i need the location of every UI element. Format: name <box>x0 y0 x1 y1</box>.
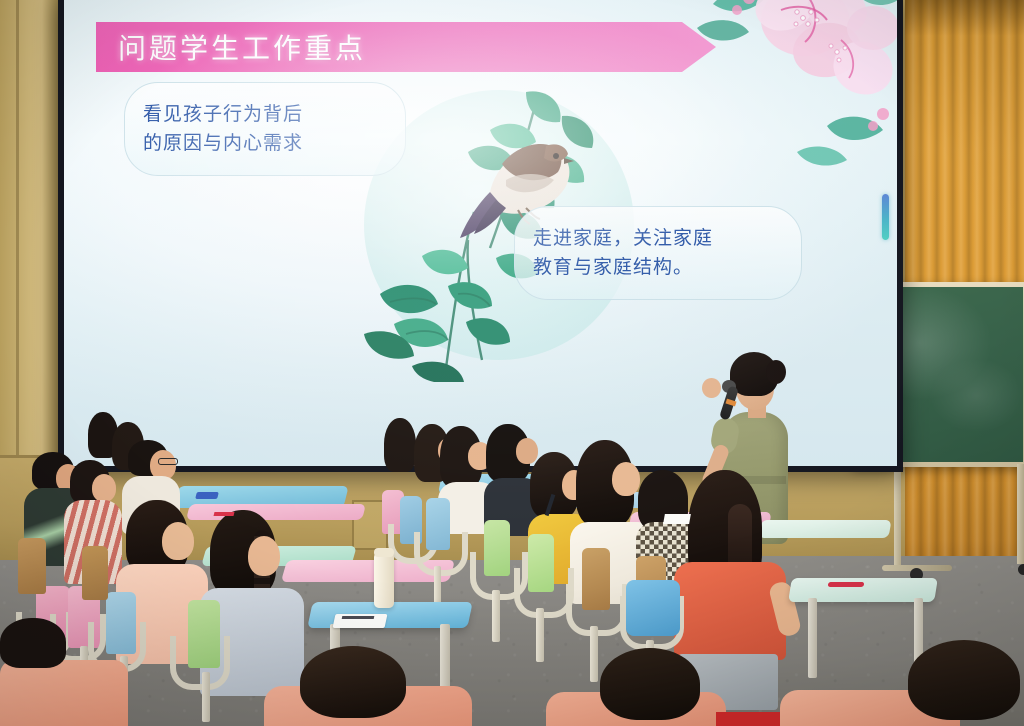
chalkboard-wheel-2 <box>1018 564 1024 575</box>
chair-post <box>536 608 544 662</box>
callout-right-text: 走进家庭，关注家庭 教育与家庭结构。 <box>533 224 713 283</box>
person-face <box>248 536 280 576</box>
chair-post <box>492 590 500 642</box>
person-face <box>92 474 116 502</box>
glasses-icon <box>158 458 178 465</box>
chair-post <box>202 672 210 722</box>
pen-on-notebook[interactable] <box>342 616 375 619</box>
person-hair <box>300 646 406 718</box>
audience-person-foreground <box>908 640 1024 726</box>
callout-right-line-1: 走进家庭，关注家庭 <box>533 224 713 253</box>
person-face <box>162 522 194 560</box>
person-torso <box>674 562 786 660</box>
blue-item[interactable] <box>195 492 219 499</box>
person-hair <box>384 418 416 472</box>
photograph-scene: 问题学生工作重点 <box>0 0 1024 726</box>
chalkboard-leg-right <box>1017 464 1024 564</box>
red-pen[interactable] <box>828 582 865 587</box>
desk-leg <box>808 598 817 678</box>
person-hair <box>600 648 700 720</box>
callout-right-line-2: 教育与家庭结构。 <box>533 253 713 282</box>
chair-post <box>590 626 598 682</box>
thermos-bottle[interactable] <box>374 552 394 608</box>
person-face <box>612 462 640 496</box>
callout-left-line-2: 的原因与内心需求 <box>143 129 303 158</box>
callout-left: 看见孩子行为背后 的原因与内心需求 <box>124 82 406 176</box>
slide-title-banner: 问题学生工作重点 <box>96 22 716 72</box>
audience-person-foreground <box>0 618 72 674</box>
audience-person-foreground <box>600 648 704 726</box>
presenter-hair-bun <box>766 360 786 384</box>
callout-left-line-1: 看见孩子行为背后 <box>143 100 303 129</box>
chair-arm <box>414 532 468 576</box>
callout-left-text: 看见孩子行为背后 的原因与内心需求 <box>143 100 303 159</box>
chair-arm <box>514 568 574 618</box>
wall-seam <box>16 0 19 520</box>
person-hair <box>908 640 1020 720</box>
presenter-raised-hand <box>702 378 721 398</box>
slide-title: 问题学生工作重点 <box>118 27 366 67</box>
callout-right: 走进家庭，关注家庭 教育与家庭结构。 <box>514 206 802 300</box>
red-object <box>716 712 780 726</box>
slide-scroll-indicator[interactable] <box>882 194 889 240</box>
chair-arm <box>170 636 230 690</box>
thermos-cap <box>374 548 394 557</box>
audience-person-foreground <box>300 646 410 726</box>
flower-decoration-icon <box>677 0 897 186</box>
chair-back-blue[interactable] <box>626 580 680 636</box>
curtain-shadow <box>905 0 1024 36</box>
chair-back-wood[interactable] <box>18 538 46 594</box>
chalkboard-leg-left <box>894 464 901 568</box>
wall-panel-left <box>0 0 60 520</box>
red-pen[interactable] <box>214 512 235 516</box>
person-hair <box>0 618 66 668</box>
paper <box>663 514 691 524</box>
chair-back-wood[interactable] <box>82 546 108 600</box>
